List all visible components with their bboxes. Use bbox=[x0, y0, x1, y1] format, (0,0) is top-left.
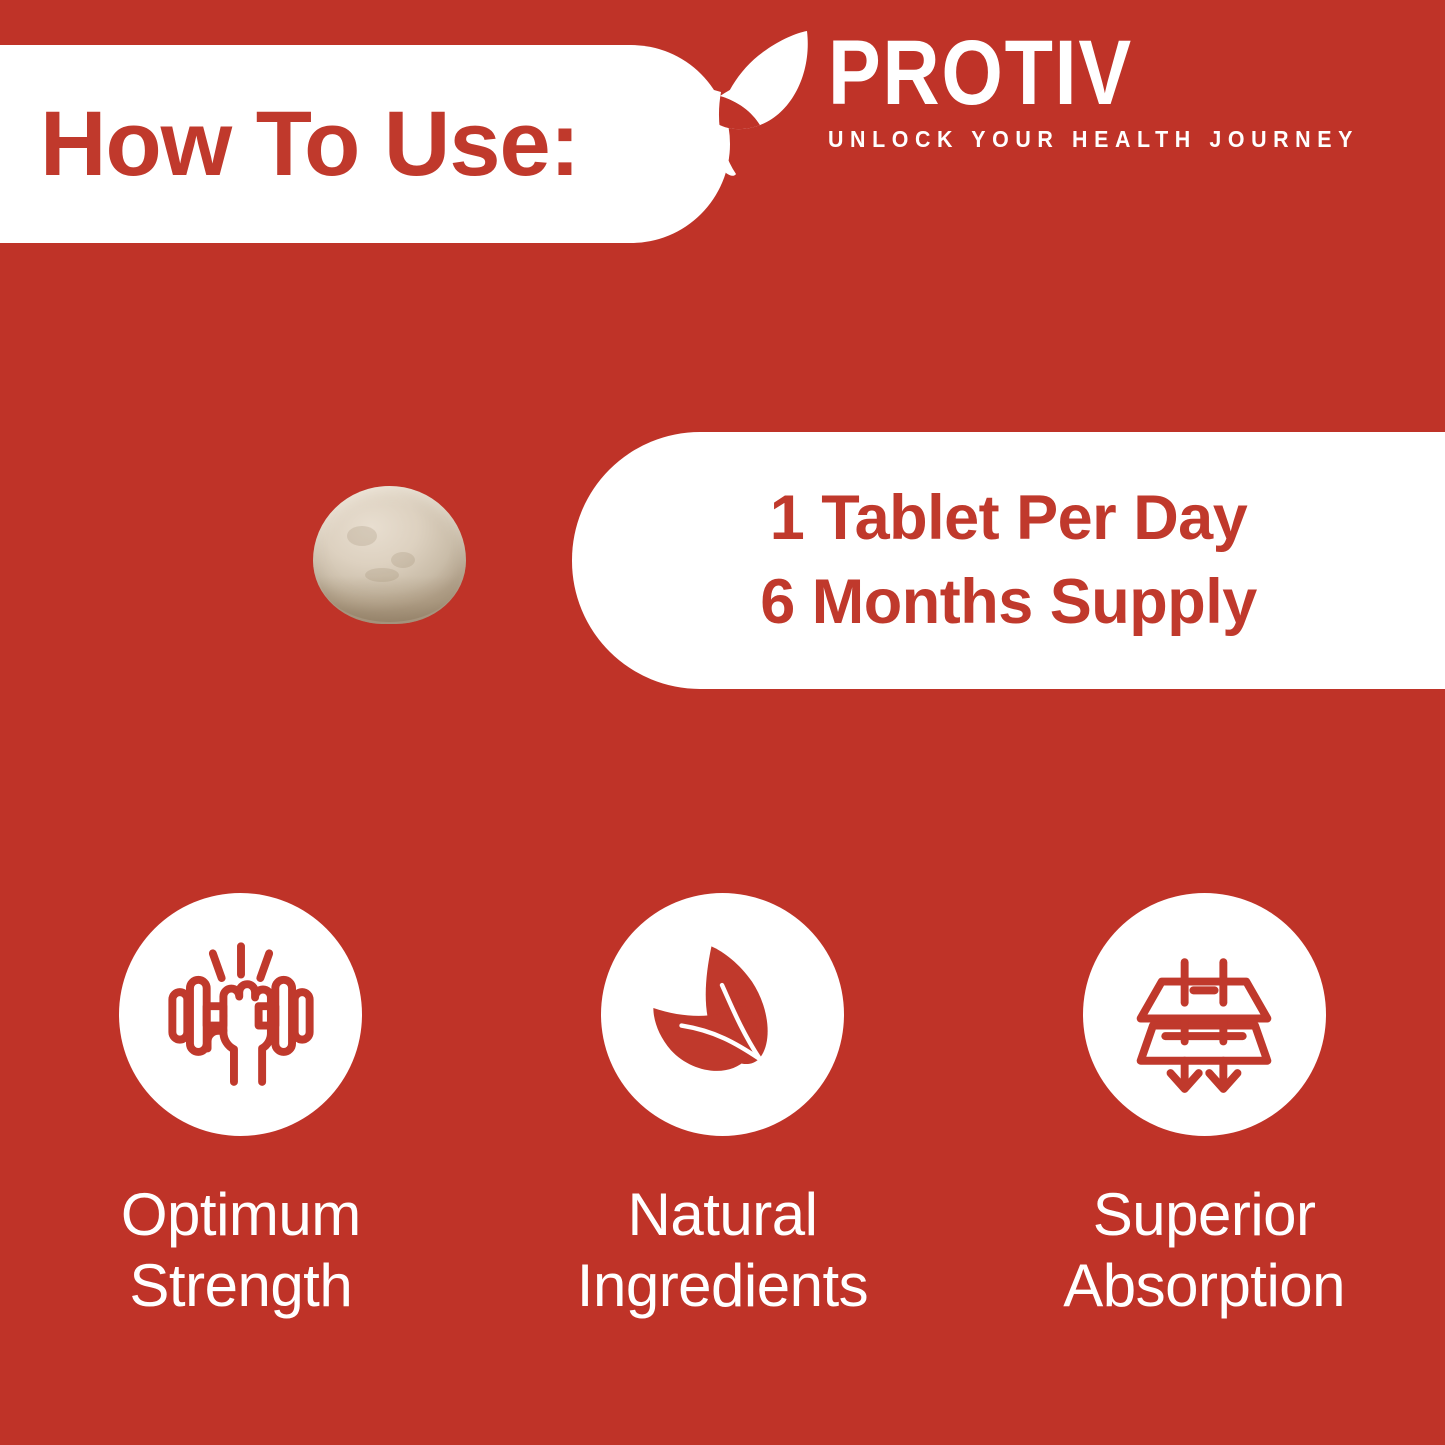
feature-row: Optimum Strength Natural Ingredients bbox=[0, 893, 1445, 1322]
brand-wordmark: PROTIV bbox=[828, 30, 1319, 116]
header-banner: How To Use: bbox=[0, 45, 730, 243]
feature-superior-absorption: Superior Absorption bbox=[994, 893, 1414, 1322]
feature-optimum-strength: Optimum Strength bbox=[31, 893, 451, 1322]
feature-icon-circle bbox=[119, 893, 362, 1136]
logo-text: PROTIV UNLOCK YOUR HEALTH JOURNEY bbox=[828, 24, 1399, 153]
leaf-icon bbox=[704, 28, 822, 180]
dosage-line-1: 1 Tablet Per Day bbox=[770, 477, 1248, 561]
absorption-layers-icon bbox=[1116, 927, 1292, 1103]
brand-logo: PROTIV UNLOCK YOUR HEALTH JOURNEY bbox=[704, 24, 1399, 180]
leaves-icon bbox=[634, 927, 810, 1103]
page-title: How To Use: bbox=[40, 98, 579, 190]
tablet-image bbox=[313, 486, 466, 624]
feature-label: Optimum Strength bbox=[121, 1180, 361, 1322]
brand-tagline: UNLOCK YOUR HEALTH JOURNEY bbox=[828, 126, 1359, 153]
product-infographic: How To Use: PROTIV UNLOCK YOUR HEALTH JO… bbox=[0, 0, 1445, 1445]
dosage-line-2: 6 Months Supply bbox=[760, 561, 1257, 645]
feature-natural-ingredients: Natural Ingredients bbox=[512, 893, 932, 1322]
dosage-card: 1 Tablet Per Day 6 Months Supply bbox=[572, 432, 1445, 689]
tablet-rim bbox=[319, 576, 460, 622]
feature-icon-circle bbox=[1083, 893, 1326, 1136]
tablet-speck bbox=[391, 552, 415, 568]
feature-label: Natural Ingredients bbox=[577, 1180, 868, 1322]
tablet-speck bbox=[365, 568, 399, 582]
dumbbell-fist-icon bbox=[153, 927, 329, 1103]
feature-icon-circle bbox=[601, 893, 844, 1136]
feature-label: Superior Absorption bbox=[1063, 1180, 1345, 1322]
tablet-speck bbox=[347, 526, 377, 546]
